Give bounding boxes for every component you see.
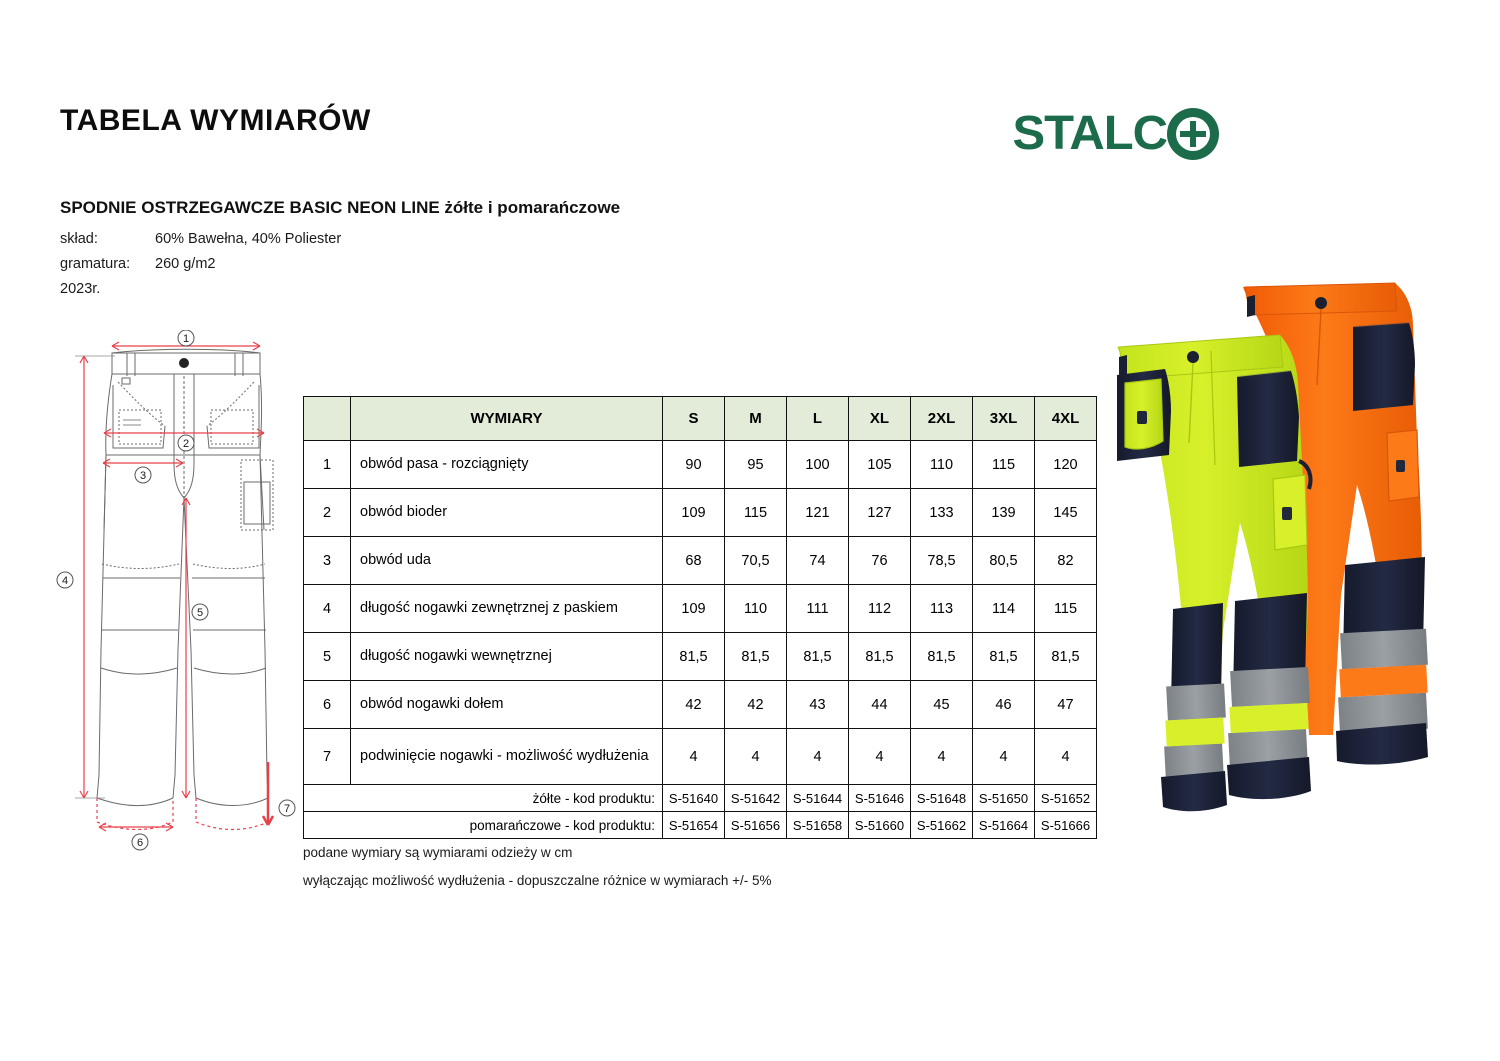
row-index: 3 [304, 537, 351, 585]
svg-text:4: 4 [62, 575, 68, 587]
cell-2xl: 81,5 [911, 633, 973, 681]
cell-xl: 4 [849, 729, 911, 785]
header-index [304, 397, 351, 441]
spec-gramatura-value: 260 g/m2 [155, 256, 215, 272]
row-index: 4 [304, 585, 351, 633]
table-header-row: WYMIARY S M L XL 2XL 3XL 4XL [304, 397, 1097, 441]
spec-gramatura-label: gramatura: [60, 256, 130, 272]
svg-text:6: 6 [137, 837, 143, 849]
product-code-row-yellow: żółte - kod produktu: S-51640 S-51642 S-… [304, 785, 1097, 812]
code-m: S-51642 [725, 785, 787, 812]
footnote-tolerance: wyłączając możliwość wydłużenia - dopusz… [303, 873, 772, 888]
cell-s: 81,5 [663, 633, 725, 681]
document-page: TABELA WYMIARÓW STALC SPODNIE OSTRZEGAWC… [0, 0, 1500, 1061]
row-label: obwód uda [351, 537, 663, 585]
cell-3xl: 80,5 [973, 537, 1035, 585]
table-row: 5 długość nogawki wewnętrznej 81,5 81,5 … [304, 633, 1097, 681]
table-row: 6 obwód nogawki dołem 42 42 43 44 45 46 … [304, 681, 1097, 729]
cell-xl: 81,5 [849, 633, 911, 681]
cell-l: 43 [787, 681, 849, 729]
cell-2xl: 78,5 [911, 537, 973, 585]
cell-3xl: 4 [973, 729, 1035, 785]
cell-m: 115 [725, 489, 787, 537]
cell-2xl: 4 [911, 729, 973, 785]
cell-3xl: 114 [973, 585, 1035, 633]
cell-s: 109 [663, 489, 725, 537]
row-index: 7 [304, 729, 351, 785]
cell-2xl: 45 [911, 681, 973, 729]
row-index: 2 [304, 489, 351, 537]
product-code-row-orange: pomarańczowe - kod produktu: S-51654 S-5… [304, 812, 1097, 839]
spec-year: 2023r. [60, 281, 100, 297]
cell-4xl: 82 [1035, 537, 1097, 585]
code-xl: S-51660 [849, 812, 911, 839]
header-wymiary: WYMIARY [351, 397, 663, 441]
cell-xl: 105 [849, 441, 911, 489]
code-label-orange: pomarańczowe - kod produktu: [304, 812, 663, 839]
cell-4xl: 81,5 [1035, 633, 1097, 681]
row-label: obwód pasa - rozciągnięty [351, 441, 663, 489]
cell-l: 111 [787, 585, 849, 633]
header-size-xl: XL [849, 397, 911, 441]
cell-4xl: 47 [1035, 681, 1097, 729]
code-4xl: S-51666 [1035, 812, 1097, 839]
row-label: długość nogawki zewnętrznej z paskiem [351, 585, 663, 633]
cell-l: 100 [787, 441, 849, 489]
row-label: obwód nogawki dołem [351, 681, 663, 729]
code-2xl: S-51648 [911, 785, 973, 812]
cell-2xl: 113 [911, 585, 973, 633]
svg-text:7: 7 [284, 803, 290, 815]
table-row: 3 obwód uda 68 70,5 74 76 78,5 80,5 82 [304, 537, 1097, 585]
header-size-2xl: 2XL [911, 397, 973, 441]
stalco-logo: STALC [1014, 108, 1219, 160]
cell-s: 68 [663, 537, 725, 585]
row-label: obwód bioder [351, 489, 663, 537]
row-index: 5 [304, 633, 351, 681]
table-row: 7 podwinięcie nogawki - możliwość wydłuż… [304, 729, 1097, 785]
table-row: 4 długość nogawki zewnętrznej z paskiem … [304, 585, 1097, 633]
cell-m: 4 [725, 729, 787, 785]
cell-2xl: 133 [911, 489, 973, 537]
header-size-m: M [725, 397, 787, 441]
header-size-4xl: 4XL [1035, 397, 1097, 441]
cell-m: 81,5 [725, 633, 787, 681]
row-label: długość nogawki wewnętrznej [351, 633, 663, 681]
code-s: S-51640 [663, 785, 725, 812]
cell-3xl: 46 [973, 681, 1035, 729]
code-label-yellow: żółte - kod produktu: [304, 785, 663, 812]
code-l: S-51658 [787, 812, 849, 839]
cell-m: 42 [725, 681, 787, 729]
cell-m: 110 [725, 585, 787, 633]
code-l: S-51644 [787, 785, 849, 812]
cell-4xl: 4 [1035, 729, 1097, 785]
code-2xl: S-51662 [911, 812, 973, 839]
code-3xl: S-51650 [973, 785, 1035, 812]
cell-s: 90 [663, 441, 725, 489]
header-size-s: S [663, 397, 725, 441]
cell-xl: 112 [849, 585, 911, 633]
spec-gramatura: gramatura: 260 g/m2 [60, 256, 480, 276]
row-index: 1 [304, 441, 351, 489]
circle-plus-icon [1167, 108, 1219, 160]
cell-4xl: 145 [1035, 489, 1097, 537]
code-m: S-51656 [725, 812, 787, 839]
cell-4xl: 115 [1035, 585, 1097, 633]
cell-m: 70,5 [725, 537, 787, 585]
cell-xl: 127 [849, 489, 911, 537]
cell-3xl: 81,5 [973, 633, 1035, 681]
spec-sklad: skład: 60% Bawełna, 40% Poliester [60, 231, 480, 251]
svg-text:1: 1 [183, 333, 189, 345]
cell-3xl: 115 [973, 441, 1035, 489]
hi-vis-trousers-illustration [1095, 265, 1465, 865]
svg-text:5: 5 [197, 607, 203, 619]
yellow-hi-vis-trousers [1117, 335, 1311, 811]
header-size-3xl: 3XL [973, 397, 1035, 441]
logo-wordmark: STALC [1012, 110, 1166, 158]
cell-xl: 44 [849, 681, 911, 729]
footnotes: podane wymiary są wymiarami odzieży w cm… [303, 845, 772, 901]
row-label: podwinięcie nogawki - możliwość wydłużen… [351, 729, 663, 785]
row-index: 6 [304, 681, 351, 729]
cell-m: 95 [725, 441, 787, 489]
cell-l: 74 [787, 537, 849, 585]
cell-xl: 76 [849, 537, 911, 585]
svg-text:2: 2 [183, 438, 189, 450]
cell-s: 4 [663, 729, 725, 785]
spec-sklad-value: 60% Bawełna, 40% Poliester [155, 231, 341, 247]
svg-text:3: 3 [140, 470, 146, 482]
product-name: SPODNIE OSTRZEGAWCZE BASIC NEON LINE żół… [60, 198, 620, 218]
cell-l: 121 [787, 489, 849, 537]
header-size-l: L [787, 397, 849, 441]
code-xl: S-51646 [849, 785, 911, 812]
table-row: 2 obwód bioder 109 115 121 127 133 139 1… [304, 489, 1097, 537]
cell-l: 4 [787, 729, 849, 785]
cell-s: 42 [663, 681, 725, 729]
page-title: TABELA WYMIARÓW [60, 104, 371, 138]
code-3xl: S-51664 [973, 812, 1035, 839]
footnote-units: podane wymiary są wymiarami odzieży w cm [303, 845, 772, 860]
cell-s: 109 [663, 585, 725, 633]
product-photo [1095, 265, 1465, 865]
cell-2xl: 110 [911, 441, 973, 489]
cell-4xl: 120 [1035, 441, 1097, 489]
cell-l: 81,5 [787, 633, 849, 681]
cell-3xl: 139 [973, 489, 1035, 537]
size-table: WYMIARY S M L XL 2XL 3XL 4XL 1 obwód pas… [303, 396, 1097, 839]
spec-sklad-label: skład: [60, 231, 98, 247]
table-row: 1 obwód pasa - rozciągnięty 90 95 100 10… [304, 441, 1097, 489]
technical-drawing: 1 2 3 4 5 6 7 [55, 330, 305, 855]
code-s: S-51654 [663, 812, 725, 839]
code-4xl: S-51652 [1035, 785, 1097, 812]
pants-line-drawing: 1 2 3 4 5 6 7 [55, 330, 305, 855]
